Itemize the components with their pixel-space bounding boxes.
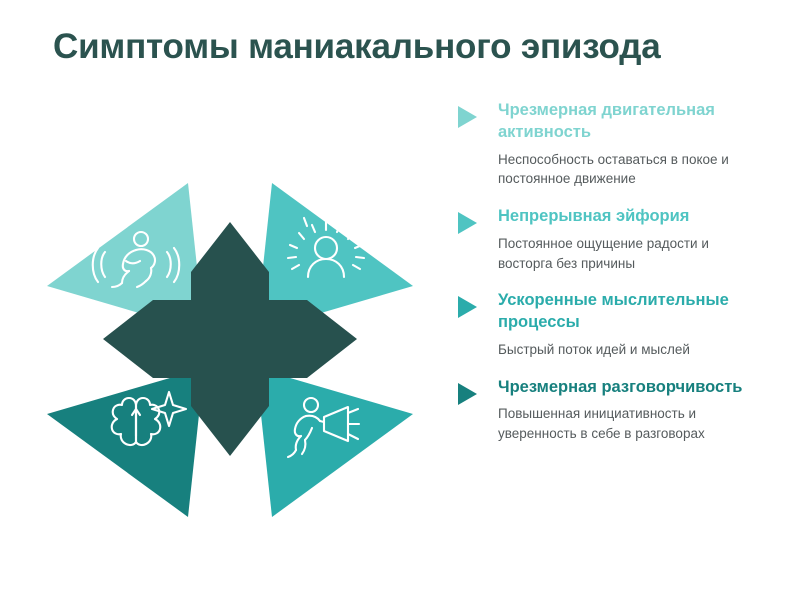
symptom-heading: Чрезмерная двигательная активность bbox=[498, 100, 755, 144]
triangle-bullet-icon bbox=[458, 212, 477, 234]
symptom-item-3: Ускоренные мыслительные процессы Быстрый… bbox=[455, 290, 755, 359]
symptom-item-1: Чрезмерная двигательная активность Неспо… bbox=[455, 100, 755, 189]
symptom-description: Повышенная инициативность и уверенность … bbox=[498, 404, 755, 443]
triangle-bullet-icon bbox=[458, 383, 477, 405]
triangle-bullet-icon bbox=[458, 106, 477, 128]
symptom-description: Постоянное ощущение радости и восторга б… bbox=[498, 234, 755, 273]
page-title: Симптомы маниакального эпизода bbox=[53, 27, 773, 67]
symptom-description: Быстрый поток идей и мыслей bbox=[498, 340, 755, 360]
symptom-description: Неспособность оставаться в покое и посто… bbox=[498, 150, 755, 189]
symptom-heading: Ускоренные мыслительные процессы bbox=[498, 290, 755, 334]
symptom-item-2: Непрерывная эйфория Постоянное ощущение … bbox=[455, 206, 755, 273]
symptom-list: Чрезмерная двигательная активность Неспо… bbox=[455, 100, 755, 461]
wedge-bottom-left bbox=[47, 368, 204, 517]
symptom-heading: Непрерывная эйфория bbox=[498, 206, 755, 228]
symptom-item-4: Чрезмерная разговорчивость Повышенная ин… bbox=[455, 377, 755, 444]
wedge-bottom-right bbox=[256, 368, 413, 517]
central-infographic-diagram bbox=[40, 160, 420, 540]
triangle-bullet-icon bbox=[458, 296, 477, 318]
symptom-heading: Чрезмерная разговорчивость bbox=[498, 377, 755, 399]
